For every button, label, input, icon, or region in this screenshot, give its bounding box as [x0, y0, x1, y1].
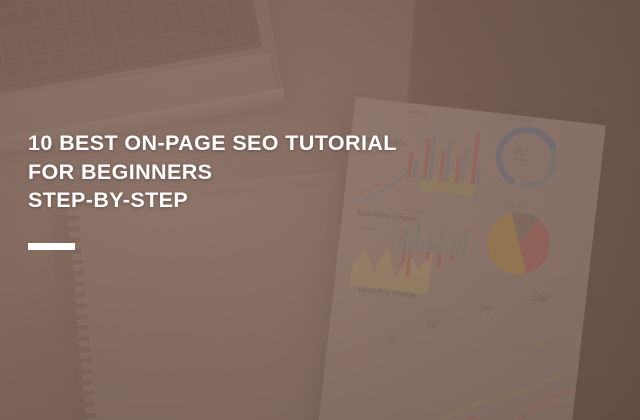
title-accent-bar — [28, 243, 75, 250]
blog-header-graphic: Morris Charts Line Chart Area Chart — [0, 0, 640, 420]
title-line-3: Step-by-Step — [28, 186, 397, 215]
title-line-2: For Beginners — [28, 158, 397, 187]
page-title: 10 Best On-Page SEO Tutorial For Beginne… — [28, 129, 397, 215]
title-line-1: 10 Best On-Page SEO Tutorial — [28, 129, 397, 158]
